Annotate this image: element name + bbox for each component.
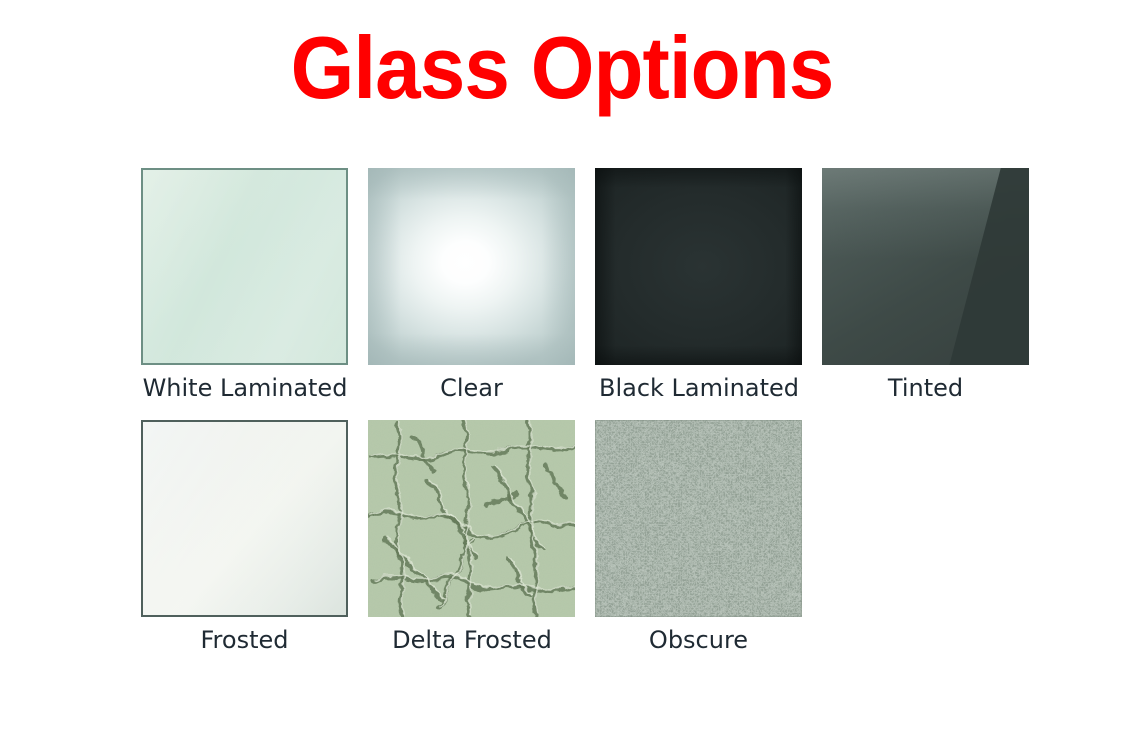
swatch-label-black-laminated: Black Laminated (574, 373, 824, 403)
glass-edge-shading (368, 168, 575, 365)
swatch-cell-frosted[interactable]: Frosted (141, 420, 348, 655)
swatch-cell-white-laminated[interactable]: White Laminated (141, 168, 370, 403)
swatch-frosted[interactable] (141, 420, 348, 617)
swatch-clear[interactable] (368, 168, 575, 365)
swatch-label-frosted: Frosted (141, 625, 348, 655)
swatch-obscure[interactable] (595, 420, 802, 617)
swatch-cell-clear[interactable]: Clear (368, 168, 575, 403)
slide-canvas: Glass Options White Laminated Clear Blac… (0, 0, 1124, 740)
swatch-white-laminated[interactable] (141, 168, 348, 365)
swatch-label-clear: Clear (368, 373, 575, 403)
swatch-label-delta-frosted: Delta Frosted (347, 625, 597, 655)
swatch-delta-frosted[interactable] (368, 420, 575, 617)
swatch-black-laminated[interactable] (595, 168, 802, 365)
page-title: Glass Options (39, 18, 1084, 118)
swatch-label-white-laminated: White Laminated (120, 373, 370, 403)
glass-sheen-overlay (143, 170, 346, 363)
swatch-label-obscure: Obscure (595, 625, 802, 655)
glass-edge-shading (595, 168, 802, 365)
swatch-label-tinted: Tinted (822, 373, 1029, 403)
swatch-tinted[interactable] (822, 168, 1029, 365)
swatch-cell-tinted[interactable]: Tinted (822, 168, 1029, 403)
swatch-cell-obscure[interactable]: Obscure (595, 420, 802, 655)
swatch-cell-black-laminated[interactable]: Black Laminated (595, 168, 824, 403)
obscure-stipple-texture (595, 420, 802, 617)
glass-sheen-overlay (143, 422, 346, 615)
delta-frosted-vein-texture (368, 420, 575, 617)
swatch-cell-delta-frosted[interactable]: Delta Frosted (368, 420, 597, 655)
